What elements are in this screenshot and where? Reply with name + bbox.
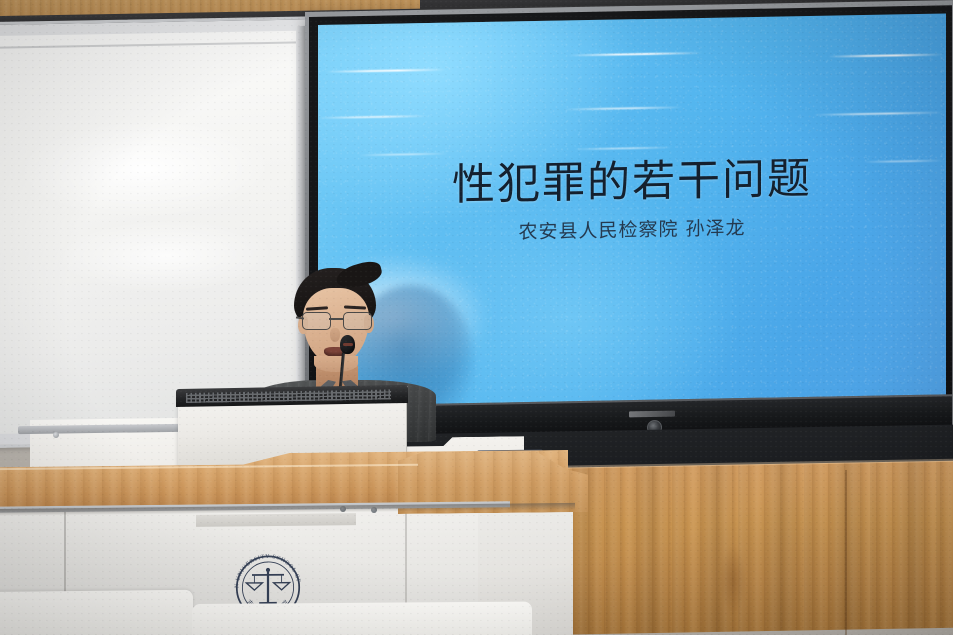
podium-label-plate [196, 513, 356, 527]
wood-panel-seam [845, 470, 847, 635]
front-desk-left [0, 590, 193, 635]
glasses-bridge [329, 318, 343, 320]
speaker-chin [314, 356, 358, 372]
panel-screw [53, 432, 59, 438]
speaker-nose [330, 328, 340, 342]
lecture-hall-scene: 性犯罪的若干问题 农安县人民检察院 孙泽龙 [0, 0, 953, 635]
glasses-temple [296, 316, 304, 319]
lower-wood-paneling [540, 461, 953, 635]
slide-title: 性犯罪的若干问题 [318, 141, 946, 215]
front-desk-right [192, 602, 532, 635]
wood-grain-knot [720, 545, 746, 615]
glasses-lens-right [343, 312, 372, 330]
display-brand-label [629, 411, 675, 418]
glasses-lens-left [302, 312, 331, 330]
microphone-indicator [343, 343, 353, 346]
